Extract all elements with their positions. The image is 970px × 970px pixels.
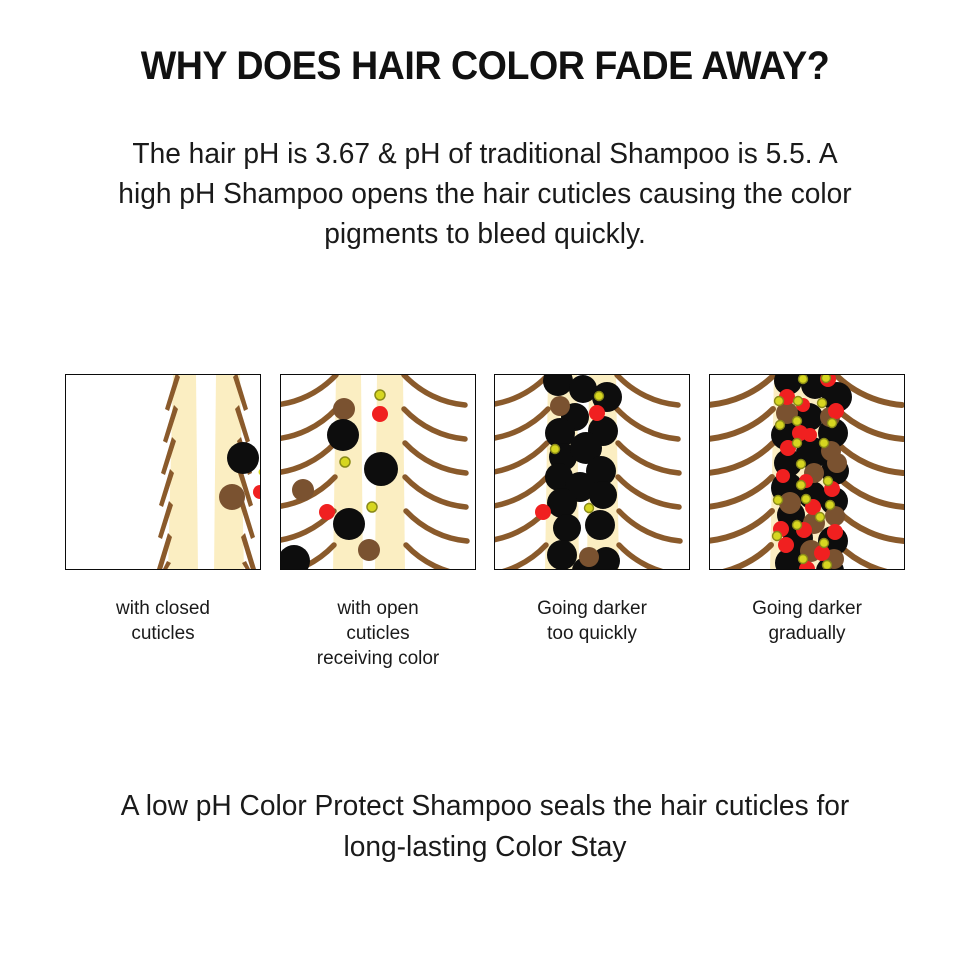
page-title: WHY DOES HAIR COLOR FADE AWAY?	[29, 44, 941, 89]
pigment-black	[227, 442, 259, 474]
pigment-yellow	[595, 392, 604, 401]
footer-message: A low pH Color Protect Shampoo seals the…	[87, 786, 882, 868]
panel-open-cuticles	[280, 374, 476, 570]
pigment-brown	[550, 396, 570, 416]
panel-frame	[65, 374, 261, 570]
pigment-brown	[333, 398, 355, 420]
pigment-yellow	[551, 445, 560, 454]
pigment-red	[253, 485, 261, 499]
caption-line: too quickly	[477, 621, 707, 646]
hair-saturated-black-illustration	[494, 374, 690, 570]
pigment-black	[280, 545, 310, 570]
caption-line: cuticles	[48, 621, 278, 646]
pigment-red	[535, 504, 551, 520]
caption-line: gradually	[692, 621, 922, 646]
caption-darker-gradually: Going darker gradually	[692, 596, 922, 646]
pigment-yellow	[585, 504, 594, 513]
caption-line: cuticles	[263, 621, 493, 646]
panel-closed-cuticles	[65, 374, 261, 570]
caption-line: with closed	[48, 596, 278, 621]
pigment-yellow	[259, 469, 262, 476]
pigment-red	[319, 504, 335, 520]
caption-open-cuticles: with open cuticles receiving color	[263, 596, 493, 671]
caption-closed-cuticles: with closed cuticles	[48, 596, 278, 646]
panel-frame	[709, 374, 905, 570]
intro-paragraph: The hair pH is 3.67 & pH of traditional …	[107, 134, 864, 254]
caption-line: Going darker	[477, 596, 707, 621]
caption-darker-quickly: Going darker too quickly	[477, 596, 707, 646]
caption-line: receiving color	[263, 646, 493, 671]
panel-frame	[494, 374, 690, 570]
pigment-yellow	[375, 390, 385, 400]
pigment-black	[327, 419, 359, 451]
pigment-red	[589, 405, 605, 421]
caption-line: Going darker	[692, 596, 922, 621]
panel-frame	[280, 374, 476, 570]
pigment-brown	[219, 484, 245, 510]
panel-darker-quickly	[494, 374, 690, 570]
pigment-brown	[358, 539, 380, 561]
hair-closed-cuticles-illustration	[65, 374, 261, 570]
caption-line: with open	[263, 596, 493, 621]
hair-balanced-mix-illustration	[709, 374, 905, 570]
pigment-yellow	[340, 457, 350, 467]
pigment-black	[364, 452, 398, 486]
pigment-brown	[292, 479, 314, 501]
panel-darker-gradually	[709, 374, 905, 570]
pigment-black	[333, 508, 365, 540]
illustration-panel-row	[0, 374, 970, 574]
pigment-red	[372, 406, 388, 422]
hair-open-cuticles-illustration	[280, 374, 476, 570]
pigment-brown	[579, 547, 599, 567]
pigment-yellow	[367, 502, 377, 512]
